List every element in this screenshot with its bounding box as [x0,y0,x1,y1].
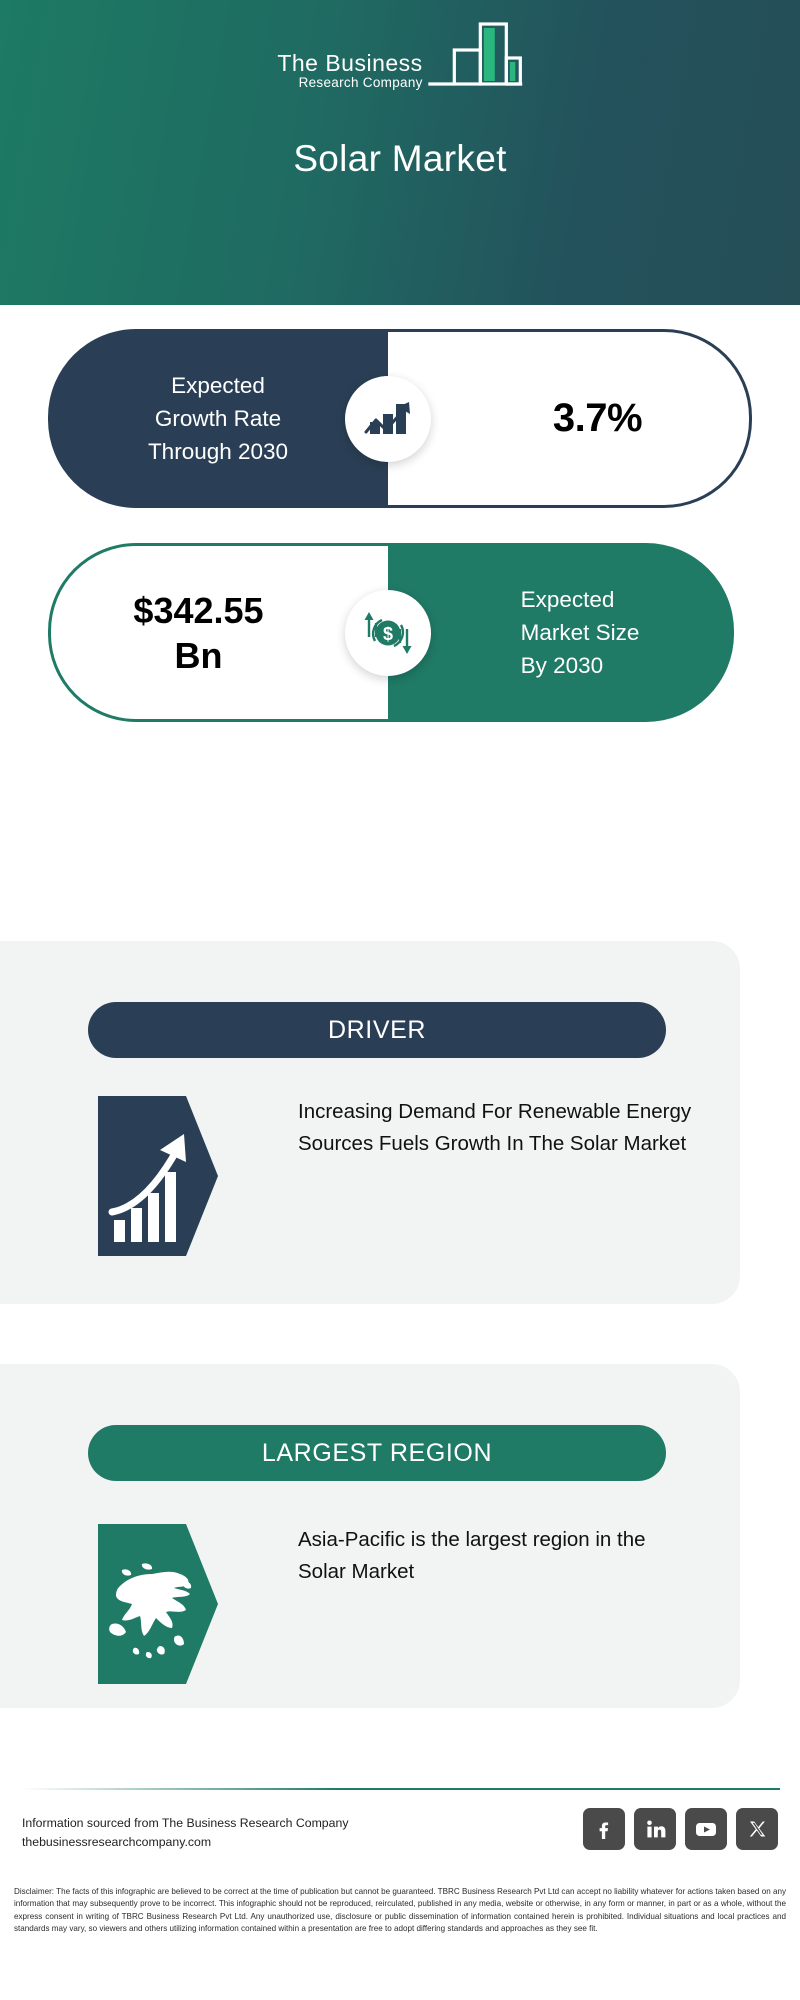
disclaimer-text: Disclaimer: The facts of this infographi… [14,1886,786,1936]
footer-source: Information sourced from The Business Re… [22,1814,348,1852]
page-title: Solar Market [0,138,800,180]
driver-panel: DRIVER Increasing Demand For Renewable E… [0,941,740,1304]
expected-growth-rate-card: Expected Growth Rate Through 2030 3.7% [48,329,752,508]
largest-region-pill: LARGEST REGION [88,1425,666,1481]
market-size-label: Expected Market Size By 2030 [483,583,640,683]
expected-market-size-card: $342.55 Bn Expected Market Size By 2030 … [48,543,734,722]
facebook-icon[interactable] [583,1808,625,1850]
dollar-cycle-icon: $ [345,590,431,676]
market-size-label-panel: Expected Market Size By 2030 [388,543,734,722]
largest-region-pill-label: LARGEST REGION [262,1439,492,1468]
growth-bar-chart-pentagon-icon [98,1096,218,1256]
growth-rate-value: 3.7% [495,396,642,441]
growth-rate-label: Expected Growth Rate Through 2030 [148,369,288,469]
market-size-label-line1: Expected [521,583,640,616]
market-size-value-panel: $342.55 Bn [48,543,388,722]
growth-rate-label-line1: Expected [148,369,288,402]
growth-rate-value-panel: 3.7% [388,329,752,508]
youtube-icon[interactable] [685,1808,727,1850]
market-size-value-line1: $342.55 [133,588,263,633]
bar-chart-logo-icon [427,20,523,101]
social-links [583,1808,778,1850]
market-size-label-line3: By 2030 [521,649,640,682]
driver-pill: DRIVER [88,1002,666,1058]
footer-source-line1: Information sourced from The Business Re… [22,1814,348,1833]
footer-divider [22,1788,780,1790]
growth-rate-label-line3: Through 2030 [148,435,288,468]
driver-pill-label: DRIVER [328,1016,426,1045]
svg-text:$: $ [383,624,393,644]
market-size-value: $342.55 Bn [133,588,305,678]
logo-line1: The Business [277,51,422,75]
largest-region-panel: LARGEST REGION Asia-Pacific is the large [0,1364,740,1708]
market-size-label-line2: Market Size [521,616,640,649]
growth-rate-label-panel: Expected Growth Rate Through 2030 [48,329,388,508]
driver-text: Increasing Demand For Renewable Energy S… [298,1096,698,1160]
header-banner: The Business Research Company Solar Mark… [0,0,800,305]
largest-region-text: Asia-Pacific is the largest region in th… [298,1524,698,1588]
x-twitter-icon[interactable] [736,1808,778,1850]
asia-pacific-map-pentagon-icon [98,1524,218,1684]
company-logo: The Business Research Company [277,20,522,101]
logo-wordmark: The Business Research Company [277,51,422,101]
footer-source-line2[interactable]: thebusinessresearchcompany.com [22,1833,348,1852]
market-size-value-line2: Bn [133,633,263,678]
growth-chart-arrow-icon [345,376,431,462]
linkedin-icon[interactable] [634,1808,676,1850]
logo-line2: Research Company [277,75,422,91]
growth-rate-label-line2: Growth Rate [148,402,288,435]
